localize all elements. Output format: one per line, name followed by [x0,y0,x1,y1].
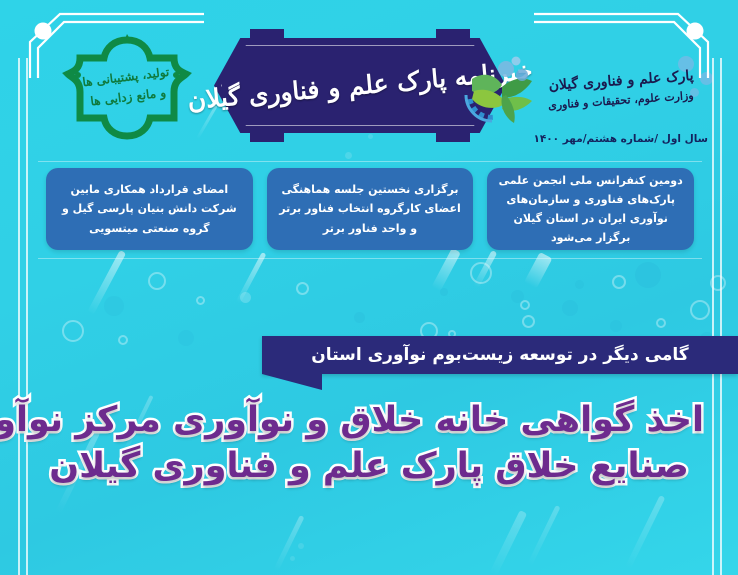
light-streak [274,515,305,571]
news-card-conference[interactable]: دومین کنفرانس ملی انجمن علمی پارک‌های فن… [487,168,694,250]
bubble [148,272,166,290]
bubble [298,543,304,549]
year-slogan-emblem: تولید، پشتیبانی ها و مانع زدایی ها [62,28,192,146]
organization-identity: پارک علم و فناوری گیلان وزارت علوم، تحقی… [462,42,722,138]
bubble [178,330,194,346]
emblem-slogan-text: تولید، پشتیبانی ها و مانع زدایی ها [55,21,198,154]
bubble [520,300,530,310]
poster-header: تولید، پشتیبانی ها و مانع زدایی ها خبرنا… [0,0,738,160]
bubble [635,262,661,288]
light-streak [528,505,561,566]
light-streak [431,248,460,292]
newsletter-poster: تولید، پشتیبانی ها و مانع زدایی ها خبرنا… [0,0,738,575]
midband-divider [38,258,702,259]
light-streak [236,252,267,304]
feature-subtitle-ribbon: گامی دیگر در توسعه زیست‌بوم نوآوری استان [262,336,738,374]
issue-info: سال اول /شماره هشتم/مهر ۱۴۰۰ [533,133,708,145]
light-streak [473,250,497,288]
bubble [470,262,492,284]
header-divider [38,161,702,162]
bubble [296,282,309,295]
bubble [511,290,524,303]
bubble [440,288,448,296]
bubble [562,300,578,316]
bubble [690,300,710,320]
bubble [104,296,124,316]
light-streak [625,495,665,570]
feature-headline-line-2: صنایع خلاق پارک علم و فناوری گیلان [34,444,704,490]
bubble [710,275,726,291]
bubble [240,292,251,303]
bubble [118,335,128,345]
bubble [354,312,365,323]
feature-headline-line-1: اخذ گواهی خانه خلاق و نوآوری مرکز نوآوری [34,398,704,444]
bubble [656,318,666,328]
bubble [612,275,626,289]
bubble [196,296,205,305]
news-headline-strip: امضای قرارداد همکاری مابین شرکت دانش بنی… [46,168,694,250]
bubble [522,315,535,328]
organization-names: پارک علم و فناوری گیلان وزارت علوم، تحقی… [548,71,694,109]
news-card-contract[interactable]: امضای قرارداد همکاری مابین شرکت دانش بنی… [46,168,253,250]
ribbon-tail-shape [262,374,322,390]
feature-headline: اخذ گواهی خانه خلاق و نوآوری مرکز نوآوری… [0,398,738,489]
bubble [290,556,295,561]
bubble [62,320,84,342]
news-card-text: برگزاری نخستین جلسه هماهنگی اعضای کارگرو… [275,180,466,238]
bubble [610,320,622,332]
news-card-meeting[interactable]: برگزاری نخستین جلسه هماهنگی اعضای کارگرو… [267,168,474,250]
light-streak [524,252,552,289]
news-card-text: امضای قرارداد همکاری مابین شرکت دانش بنی… [54,180,245,238]
light-streak [87,250,126,315]
bubble [575,280,584,289]
gilan-science-park-leaf-logo-icon [462,51,540,129]
feature-subtitle-text: گامی دیگر در توسعه زیست‌بوم نوآوری استان [311,345,688,365]
news-card-text: دومین کنفرانس ملی انجمن علمی پارک‌های فن… [495,171,686,248]
light-streak [489,510,527,575]
